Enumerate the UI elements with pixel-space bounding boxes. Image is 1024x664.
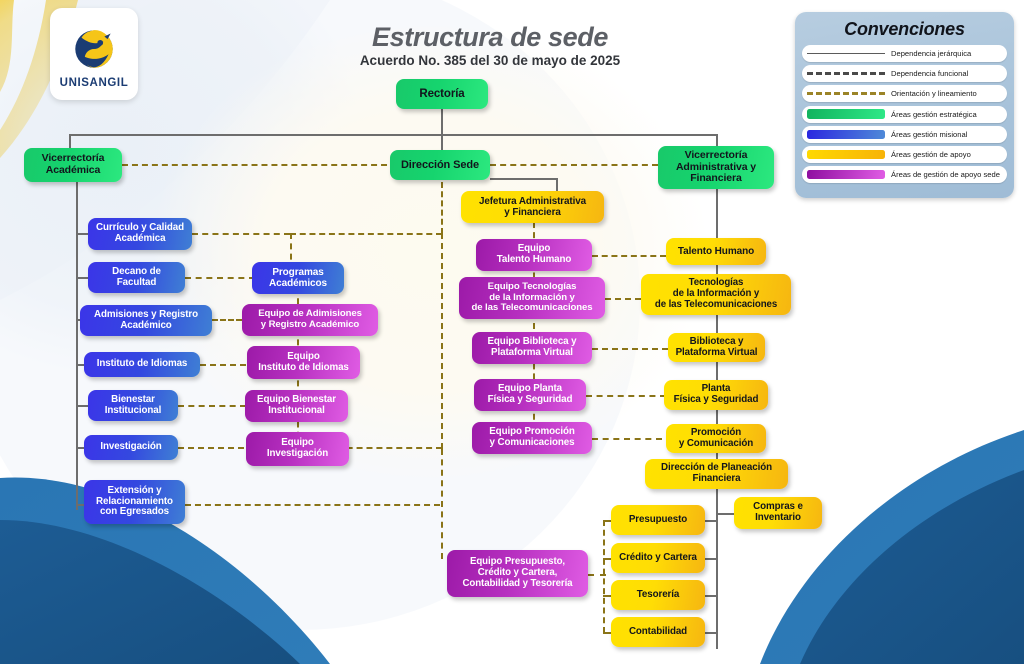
connector-extension-dashed <box>185 504 440 506</box>
node-tecnologias-informacion[interactable]: Tecnologías de la Información y de las T… <box>641 274 791 315</box>
logo-wordmark: UNISANGIL <box>60 77 129 89</box>
node-equipo-admisiones-registro[interactable]: Equipo de Adimisiones y Registro Académi… <box>242 304 378 336</box>
connector-direccion-eqpresupuesto-v <box>441 449 443 559</box>
node-planta-fisica-seguridad[interactable]: Planta Física y Seguridad <box>664 380 768 410</box>
connector-eqpromocion-promocion <box>592 438 662 440</box>
legend-item-orientacion-lineamiento: Orientación y lineamiento <box>802 85 1007 102</box>
connector-eqplanta-planta <box>586 395 666 397</box>
legend-item-label: Orientación y lineamiento <box>891 89 977 98</box>
connector-to-compras <box>716 513 734 515</box>
solid-line-sample-icon <box>807 49 885 58</box>
legend-item-gestion-apoyo-sede: Áreas de gestión de apoyo sede <box>802 166 1007 183</box>
connector-curriculo-dashed <box>192 233 290 235</box>
legend-item-label: Áreas gestión de apoyo <box>891 150 971 159</box>
unisangil-mark-icon <box>68 22 120 74</box>
connector-to-contabilidad <box>705 632 716 634</box>
node-investigacion[interactable]: Investigación <box>84 435 178 460</box>
node-talento-humano[interactable]: Talento Humano <box>666 238 766 265</box>
node-contabilidad[interactable]: Contabilidad <box>611 617 705 647</box>
legend-panel: Convenciones Dependencia jerárquica Depe… <box>795 12 1014 198</box>
connector-to-bienestar <box>76 405 88 407</box>
purple-bar-sample-icon <box>807 170 885 179</box>
node-rectoria[interactable]: Rectoría <box>396 79 488 109</box>
legend-item-label: Áreas de gestión de apoyo sede <box>891 170 1000 179</box>
node-admisiones-registro-academico[interactable]: Admisiones y Registro Académico <box>80 305 212 336</box>
legend-item-dependencia-jerarquica: Dependencia jerárquica <box>802 45 1007 62</box>
node-decano-facultad[interactable]: Decano de Facultad <box>88 262 185 293</box>
connector-eqpresupuesto-bracket <box>603 520 605 633</box>
legend-item-label: Dependencia jerárquica <box>891 49 971 58</box>
connector-vicacad-direccion-dashed <box>122 164 397 166</box>
connector-direccion-jefatura-v <box>556 178 558 191</box>
node-direccion-planeacion-financiera[interactable]: Dirección de Planeación Financiera <box>645 459 788 489</box>
node-instituto-idiomas[interactable]: Instituto de Idiomas <box>84 352 200 377</box>
connector-bracket-credito <box>603 558 611 560</box>
connector-planta-promocion <box>716 410 718 425</box>
unisangil-logo: UNISANGIL <box>50 8 138 100</box>
node-equipo-investigacion[interactable]: Equipo Investigación <box>246 432 349 466</box>
connector-main-bus <box>69 134 717 136</box>
connector-to-curriculo <box>76 233 88 235</box>
legend-item-label: Áreas gestión estratégica <box>891 110 977 119</box>
connector-bracket-presupuesto <box>603 520 611 522</box>
node-presupuesto[interactable]: Presupuesto <box>611 505 705 535</box>
node-biblioteca-plataforma-virtual[interactable]: Biblioteca y Plataforma Virtual <box>668 333 765 362</box>
legend-item-dependencia-funcional: Dependencia funcional <box>802 65 1007 82</box>
node-promocion-comunicacion[interactable]: Promoción y Comunicación <box>666 424 766 453</box>
node-equipo-presupuesto-credito-contabilidad[interactable]: Equipo Presupuesto, Crédito y Cartera, C… <box>447 550 588 597</box>
node-equipo-biblioteca-plataforma[interactable]: Equipo Biblioteca y Plataforma Virtual <box>472 332 592 364</box>
node-programas-academicos[interactable]: Programas Académicos <box>252 262 344 294</box>
connector-bracket-tesoreria <box>603 595 611 597</box>
connector-bienestar-dashed <box>178 405 246 407</box>
connector-investigacion-dashed <box>178 447 244 449</box>
node-equipo-tecnologias-informacion[interactable]: Equipo Tecnologías de la Información y d… <box>459 277 605 319</box>
connector-decano-dashed <box>185 277 255 279</box>
node-equipo-talento-humano[interactable]: Equipo Talento Humano <box>476 239 592 271</box>
connector-to-presupuesto <box>705 520 716 522</box>
legend-item-label: Dependencia funcional <box>891 69 968 78</box>
legend-item-gestion-apoyo: Áreas gestión de apoyo <box>802 146 1007 163</box>
connector-eqpresupuesto-tie <box>588 574 606 576</box>
blue-bar-sample-icon <box>807 130 885 139</box>
connector-direccion-jefatura-h <box>490 178 556 180</box>
connector-direccion-vertical-dashed <box>441 233 443 449</box>
legend-title: Convenciones <box>802 19 1007 40</box>
node-tesoreria[interactable]: Tesorería <box>611 580 705 610</box>
connector-admisiones-dashed <box>212 319 242 321</box>
connector-direccion-vicadmin-dashed <box>490 164 658 166</box>
connector-biblioteca-planta <box>716 362 718 380</box>
legend-item-gestion-estrategica: Áreas gestión estratégica <box>802 106 1007 123</box>
node-equipo-bienestar-institucional[interactable]: Equipo Bienestar Institucional <box>245 390 348 422</box>
node-direccion-sede[interactable]: Dirección Sede <box>390 150 490 180</box>
node-curriculo-calidad-academica[interactable]: Currículo y Calidad Académica <box>88 218 192 250</box>
connector-bracket-contabilidad <box>603 632 611 634</box>
connector-eqbiblioteca-biblioteca <box>592 348 668 350</box>
node-vicerrectoria-academica[interactable]: Vicerrectoría Académica <box>24 148 122 182</box>
node-equipo-instituto-idiomas[interactable]: Equipo Instituto de Idiomas <box>247 346 360 379</box>
connector-eqtic-tic <box>605 298 641 300</box>
connector-idiomas-dashed <box>200 364 246 366</box>
dashed-gold-line-sample-icon <box>807 89 885 98</box>
node-vicerrectoria-administrativa-financiera[interactable]: Vicerrectoría Administrativa y Financier… <box>658 146 774 189</box>
node-compras-inventario[interactable]: Compras e Inventario <box>734 497 822 529</box>
node-equipo-promocion-comunicaciones[interactable]: Equipo Promoción y Comunicaciones <box>472 422 592 454</box>
connector-tic-biblioteca <box>716 315 718 335</box>
connector-bracket-top <box>290 233 442 235</box>
connector-eqtalento-talento <box>592 255 666 257</box>
green-bar-sample-icon <box>807 110 885 119</box>
node-equipo-planta-fisica-seguridad[interactable]: Equipo Planta Física y Seguridad <box>474 379 586 411</box>
connector-direccion-down-dashed <box>441 182 443 234</box>
connector-to-decano <box>76 277 88 279</box>
yellow-bar-sample-icon <box>807 150 885 159</box>
connector-vicacad-spine <box>76 180 78 510</box>
node-jefatura-administrativa-financiera[interactable]: Jefetura Administrativa y Financiera <box>461 191 604 223</box>
dashed-dark-line-sample-icon <box>807 69 885 78</box>
node-extension-relacionamiento-egresados[interactable]: Extensión y Relacionamiento con Egresado… <box>84 480 185 524</box>
legend-item-label: Áreas gestión misional <box>891 130 967 139</box>
connector-rectoria-down <box>441 108 443 134</box>
connector-to-tesoreria <box>705 595 716 597</box>
connector-to-credito <box>705 558 716 560</box>
legend-item-gestion-misional: Áreas gestión misional <box>802 126 1007 143</box>
page-subtitle: Acuerdo No. 385 del 30 de mayo de 2025 <box>280 53 700 68</box>
page-title: Estructura de sede <box>280 22 700 53</box>
node-bienestar-institucional[interactable]: Bienestar Institucional <box>88 390 178 421</box>
node-credito-cartera[interactable]: Crédito y Cartera <box>611 543 705 573</box>
